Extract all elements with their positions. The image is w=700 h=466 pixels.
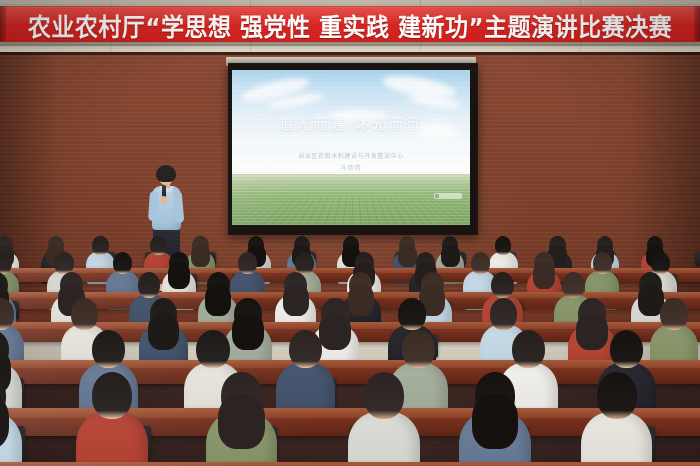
audience-head [398,298,425,330]
audience-head [92,330,125,368]
auditorium-chair [695,252,700,266]
audience-head [471,252,490,274]
audience-member [581,372,652,466]
audience-member [0,372,22,466]
audience-hair [533,262,555,289]
audience-member [206,372,277,466]
audience-member [459,372,530,466]
audience-head [490,298,517,330]
audience-hair [148,313,180,351]
audience-hair [441,245,460,267]
audience-head [113,252,132,274]
photo-canvas: 农业农村厅“学思想 强党性 重实践 建新功”主题演讲比赛决赛 追光而遇 沐光而行… [0,0,700,466]
audience-head [0,298,14,330]
audience-head [196,330,229,368]
audience-member [348,372,419,466]
audience-head [651,252,670,274]
audience-head [562,272,585,298]
audience-head [364,372,404,419]
audience-head [402,330,435,368]
audience-member [76,372,147,466]
audience-head [238,252,257,274]
audience-torso [76,412,147,466]
audience-head [512,330,545,368]
audience [0,0,700,466]
audience-head [92,372,132,419]
audience-desk-row [0,462,700,466]
audience-head [295,252,314,274]
audience-torso [581,412,652,466]
audience-hair [283,284,309,316]
audience-torso [348,412,419,466]
audience-head [491,272,514,298]
audience-head [71,298,98,330]
audience-head [610,330,643,368]
audience-hair [472,394,519,450]
audience-head [660,298,687,330]
audience-head [593,252,612,274]
audience-head [54,252,73,274]
audience-hair [218,394,265,450]
audience-head [289,330,322,368]
audience-head [495,236,511,255]
audience-hair [168,262,190,289]
audience-head [138,272,161,298]
audience-head [597,372,637,419]
